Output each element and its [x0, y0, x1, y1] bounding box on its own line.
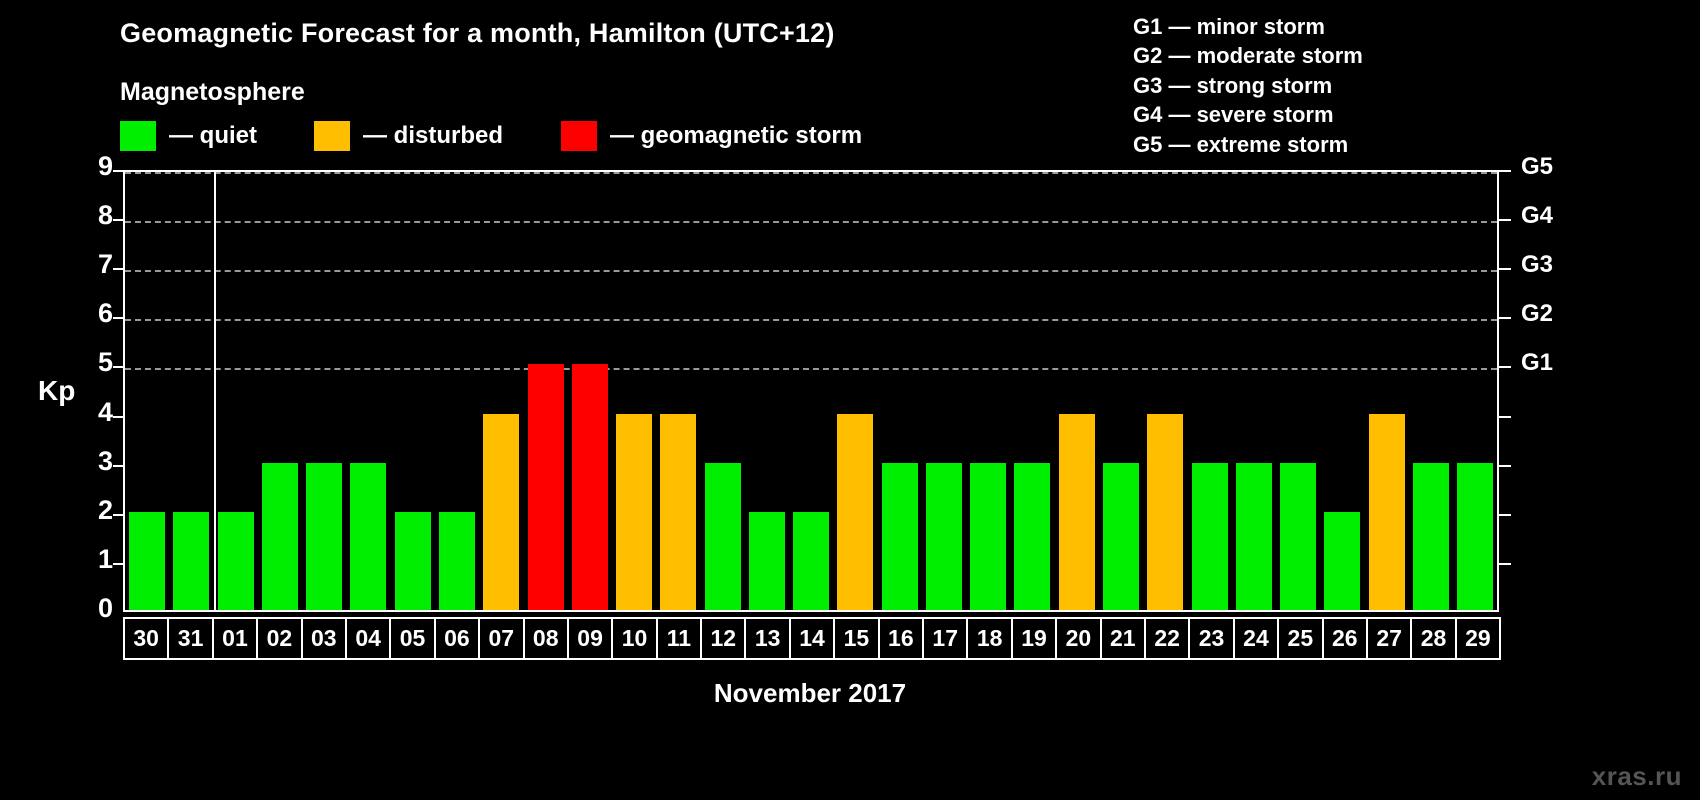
date-label-18[interactable]: 18 — [966, 617, 1012, 660]
bar-12[interactable] — [705, 463, 741, 610]
bar-cell[interactable] — [125, 172, 169, 610]
bar-series — [125, 172, 1497, 610]
bar-15[interactable] — [837, 414, 873, 610]
bar-cell[interactable] — [612, 172, 656, 610]
legend-item-storm: — geomagnetic storm — [561, 121, 862, 151]
bar-cell[interactable] — [568, 172, 612, 610]
bar-cell[interactable] — [1364, 172, 1408, 610]
bar-06[interactable] — [439, 512, 475, 610]
y-tick-label-5: 5 — [73, 347, 113, 378]
g-tick-label-G4: G4 — [1521, 202, 1553, 230]
bar-08[interactable] — [528, 364, 564, 610]
bar-22[interactable] — [1147, 414, 1183, 610]
g-tick-mark-kp-8 — [1499, 219, 1511, 221]
bar-17[interactable] — [926, 463, 962, 610]
g-tick-mark-kp-7 — [1499, 268, 1511, 270]
orange-swatch — [314, 121, 350, 151]
bar-07[interactable] — [483, 414, 519, 610]
bar-cell[interactable] — [1232, 172, 1276, 610]
date-label-26[interactable]: 26 — [1322, 617, 1368, 660]
bar-20[interactable] — [1059, 414, 1095, 610]
g-tick-mark-kp-2 — [1499, 514, 1511, 516]
date-label-20[interactable]: 20 — [1055, 617, 1101, 660]
bar-cell[interactable] — [789, 172, 833, 610]
date-label-22[interactable]: 22 — [1144, 617, 1190, 660]
g-tick-mark-kp-9 — [1499, 170, 1511, 172]
magnetosphere-label: Magnetosphere — [120, 78, 305, 107]
y-tick-label-7: 7 — [73, 249, 113, 280]
bar-cell[interactable] — [922, 172, 966, 610]
green-swatch — [120, 121, 156, 151]
date-label-12[interactable]: 12 — [700, 617, 746, 660]
g-scale-item-g2: G2 — moderate storm — [1133, 41, 1363, 70]
date-axis: 3031010203040506070809101112131415161718… — [123, 617, 1499, 660]
bar-04[interactable] — [350, 463, 386, 610]
bar-21[interactable] — [1103, 463, 1139, 610]
bar-18[interactable] — [970, 463, 1006, 610]
date-label-14[interactable]: 14 — [789, 617, 835, 660]
date-label-10[interactable]: 10 — [611, 617, 657, 660]
date-label-04[interactable]: 04 — [345, 617, 391, 660]
date-label-27[interactable]: 27 — [1366, 617, 1412, 660]
bar-cell[interactable] — [966, 172, 1010, 610]
bar-01[interactable] — [218, 512, 254, 610]
bar-cell[interactable] — [1187, 172, 1231, 610]
g-tick-label-G1: G1 — [1521, 349, 1553, 377]
bar-27[interactable] — [1369, 414, 1405, 610]
bar-cell[interactable] — [391, 172, 435, 610]
date-label-19[interactable]: 19 — [1011, 617, 1057, 660]
date-label-11[interactable]: 11 — [656, 617, 702, 660]
g-scale-item-g4: G4 — severe storm — [1133, 100, 1363, 129]
g-scale-item-g5: G5 — extreme storm — [1133, 130, 1363, 159]
date-label-29[interactable]: 29 — [1455, 617, 1501, 660]
date-label-13[interactable]: 13 — [744, 617, 790, 660]
date-label-23[interactable]: 23 — [1188, 617, 1234, 660]
watermark: xras.ru — [1592, 761, 1682, 792]
plot-area — [123, 170, 1499, 612]
bar-cell[interactable] — [1010, 172, 1054, 610]
bar-cell[interactable] — [878, 172, 922, 610]
date-label-09[interactable]: 09 — [567, 617, 613, 660]
date-label-31[interactable]: 31 — [167, 617, 213, 660]
x-axis-title-text: November 2017 — [714, 678, 906, 708]
bar-cell[interactable] — [656, 172, 700, 610]
date-label-25[interactable]: 25 — [1277, 617, 1323, 660]
bar-10[interactable] — [616, 414, 652, 610]
date-label-06[interactable]: 06 — [434, 617, 480, 660]
date-label-03[interactable]: 03 — [301, 617, 347, 660]
y-tick-label-2: 2 — [73, 495, 113, 526]
bar-cell[interactable] — [1276, 172, 1320, 610]
bar-cell[interactable] — [302, 172, 346, 610]
bar-cell[interactable] — [1453, 172, 1497, 610]
legend-item-quiet: — quiet — [120, 121, 257, 151]
bar-28[interactable] — [1413, 463, 1449, 610]
bar-25[interactable] — [1280, 463, 1316, 610]
bar-24[interactable] — [1236, 463, 1272, 610]
g-tick-mark-kp-6 — [1499, 317, 1511, 319]
bar-cell[interactable] — [1320, 172, 1364, 610]
g-tick-label-G5: G5 — [1521, 153, 1553, 181]
date-label-08[interactable]: 08 — [523, 617, 569, 660]
x-axis-title: November 2017 — [0, 678, 1700, 709]
bar-02[interactable] — [262, 463, 298, 610]
bar-cell[interactable] — [523, 172, 567, 610]
date-label-24[interactable]: 24 — [1233, 617, 1279, 660]
date-label-01[interactable]: 01 — [212, 617, 258, 660]
date-label-15[interactable]: 15 — [833, 617, 879, 660]
legend-label-disturbed: — disturbed — [363, 122, 503, 150]
date-label-30[interactable]: 30 — [123, 617, 169, 660]
red-swatch — [561, 121, 597, 151]
bar-cell[interactable] — [1409, 172, 1453, 610]
bar-26[interactable] — [1324, 512, 1360, 610]
bar-cell[interactable] — [745, 172, 789, 610]
date-label-02[interactable]: 02 — [256, 617, 302, 660]
bar-11[interactable] — [660, 414, 696, 610]
bar-cell[interactable] — [435, 172, 479, 610]
legend-item-disturbed: — disturbed — [314, 121, 503, 151]
date-label-17[interactable]: 17 — [922, 617, 968, 660]
g-axis: G1G2G3G4G5 — [1499, 170, 1619, 612]
bar-cell[interactable] — [833, 172, 877, 610]
date-label-05[interactable]: 05 — [389, 617, 435, 660]
bar-09[interactable] — [572, 364, 608, 610]
y-tick-label-0: 0 — [73, 593, 113, 624]
bar-cell[interactable] — [214, 172, 258, 610]
y-tick-label-4: 4 — [73, 397, 113, 428]
bar-05[interactable] — [395, 512, 431, 610]
date-label-28[interactable]: 28 — [1410, 617, 1456, 660]
bar-cell[interactable] — [1055, 172, 1099, 610]
g-scale-item-g1: G1 — minor storm — [1133, 12, 1363, 41]
bar-cell[interactable] — [258, 172, 302, 610]
bar-13[interactable] — [749, 512, 785, 610]
legend: — quiet — disturbed — geomagnetic storm — [120, 121, 862, 151]
bar-19[interactable] — [1014, 463, 1050, 610]
y-tick-label-6: 6 — [73, 298, 113, 329]
legend-label-storm: — geomagnetic storm — [610, 122, 862, 150]
bar-14[interactable] — [793, 512, 829, 610]
bar-16[interactable] — [882, 463, 918, 610]
bar-31[interactable] — [173, 512, 209, 610]
g-tick-mark-kp-3 — [1499, 465, 1511, 467]
bar-cell[interactable] — [479, 172, 523, 610]
date-label-21[interactable]: 21 — [1100, 617, 1146, 660]
date-label-16[interactable]: 16 — [878, 617, 924, 660]
g-scale-item-g3: G3 — strong storm — [1133, 71, 1363, 100]
y-tick-label-8: 8 — [73, 200, 113, 231]
g-tick-mark-kp-5 — [1499, 366, 1511, 368]
bar-03[interactable] — [306, 463, 342, 610]
bar-cell[interactable] — [346, 172, 390, 610]
page-title: Geomagnetic Forecast for a month, Hamilt… — [120, 18, 835, 49]
g-scale-legend: G1 — minor storm G2 — moderate storm G3 … — [1133, 12, 1363, 159]
legend-label-quiet: — quiet — [169, 122, 257, 150]
y-tick-label-9: 9 — [73, 151, 113, 182]
g-tick-label-G2: G2 — [1521, 300, 1553, 328]
bar-cell[interactable] — [169, 172, 213, 610]
bar-29[interactable] — [1457, 463, 1493, 610]
y-axis: 0123456789 — [65, 170, 113, 612]
bar-cell[interactable] — [700, 172, 744, 610]
y-tick-label-3: 3 — [73, 446, 113, 477]
g-tick-mark-kp-1 — [1499, 563, 1511, 565]
y-tick-label-1: 1 — [73, 544, 113, 575]
bar-30[interactable] — [129, 512, 165, 610]
date-label-07[interactable]: 07 — [478, 617, 524, 660]
bar-cell[interactable] — [1143, 172, 1187, 610]
bar-cell[interactable] — [1099, 172, 1143, 610]
g-tick-mark-kp-4 — [1499, 416, 1511, 418]
bar-23[interactable] — [1192, 463, 1228, 610]
g-tick-label-G3: G3 — [1521, 251, 1553, 279]
